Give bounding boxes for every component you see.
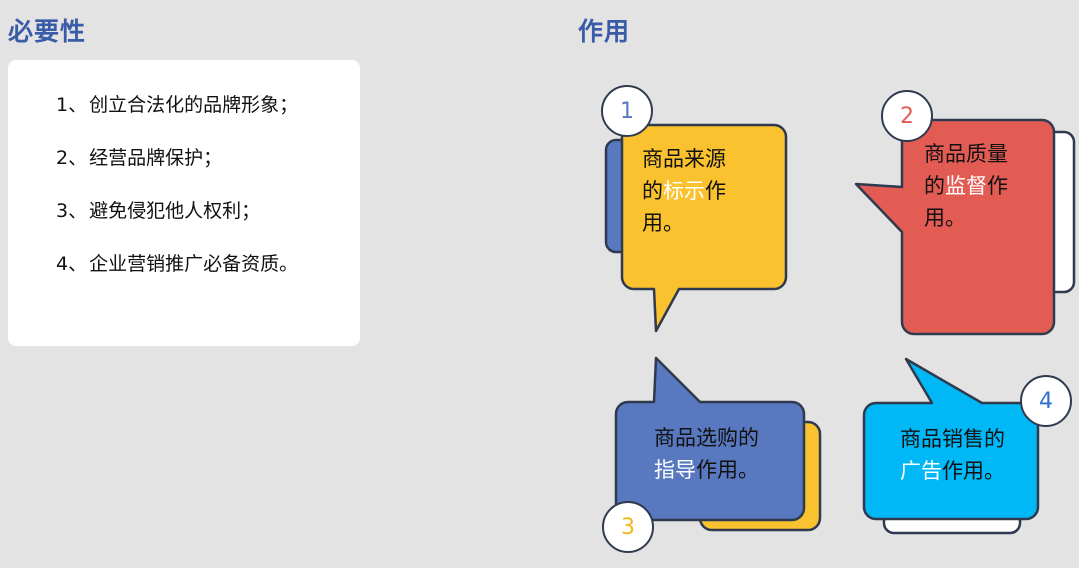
bubble-3-line1: 商品选购的 [654,426,759,450]
callout-bubble-2-text: 商品质量的监督作用。 [924,138,1054,266]
bubble-2-line1: 商品质量 [924,142,1008,166]
bubble-2-line3: 用。 [924,206,966,230]
necessity-card: 1、 创立合法化的品牌形象； 2、 经营品牌保护； 3、 避免侵犯他人权利； 4… [8,60,360,346]
list-item-label: 经营品牌保护； [89,143,222,170]
list-item: 4、 企业营销推广必备资质。 [56,249,350,276]
bubble-2-line2-pre: 的 [924,174,945,198]
list-item-number: 1、 [56,90,87,117]
bubble-2-highlight: 监督 [945,174,987,198]
list-item-label: 避免侵犯他人权利； [89,196,260,223]
list-item-label: 企业营销推广必备资质。 [89,249,298,276]
list-item: 2、 经营品牌保护； [56,143,350,170]
page-title-right: 作用 [578,12,630,48]
slide-canvas: 必要性 1、 创立合法化的品牌形象； 2、 经营品牌保护； 3、 避免侵犯他人权… [0,0,1079,568]
list-item-number: 4、 [56,249,87,276]
callout-bubble-2[interactable]: 商品质量的监督作用。 2 [852,90,1078,340]
callout-bubble-1-text: 商品来源的标示作用。 [642,143,772,271]
callout-bubble-3-text: 商品选购的指导作用。 [654,422,824,518]
callout-bubble-1[interactable]: 商品来源的标示作用。 1 [598,85,798,325]
callout-bubble-4[interactable]: 商品销售的广告作用。 4 [862,355,1072,555]
necessity-list: 1、 创立合法化的品牌形象； 2、 经营品牌保护； 3、 避免侵犯他人权利； 4… [56,90,350,302]
bubble-1-line3: 用。 [642,211,684,235]
bubble-4-line1: 商品销售的 [900,427,1005,451]
bubble-3-line2-post: 作用。 [696,458,759,482]
callout-bubble-4-text: 商品销售的广告作用。 [900,423,1070,519]
callout-badge-2[interactable]: 2 [881,90,933,142]
list-item: 3、 避免侵犯他人权利； [56,196,350,223]
bubble-3-highlight: 指导 [654,458,696,482]
list-item-number: 2、 [56,143,87,170]
bubble-1-highlight: 标示 [663,179,705,203]
bubble-4-highlight: 广告 [900,459,942,483]
callout-bubble-3[interactable]: 商品选购的指导作用。 3 [602,350,832,555]
callout-badge-1[interactable]: 1 [601,85,653,137]
bubble-2-line2-post: 作 [987,174,1008,198]
list-item-label: 创立合法化的品牌形象； [89,90,298,117]
page-title-left: 必要性 [8,12,86,48]
bubble-1-line2-pre: 的 [642,179,663,203]
callout-badge-4[interactable]: 4 [1020,375,1072,427]
list-item-number: 3、 [56,196,87,223]
bubble-4-line2-post: 作用。 [942,459,1005,483]
bubble-1-line2-post: 作 [705,179,726,203]
callout-badge-3[interactable]: 3 [602,501,654,553]
bubble-1-line1: 商品来源 [642,147,726,171]
list-item: 1、 创立合法化的品牌形象； [56,90,350,117]
